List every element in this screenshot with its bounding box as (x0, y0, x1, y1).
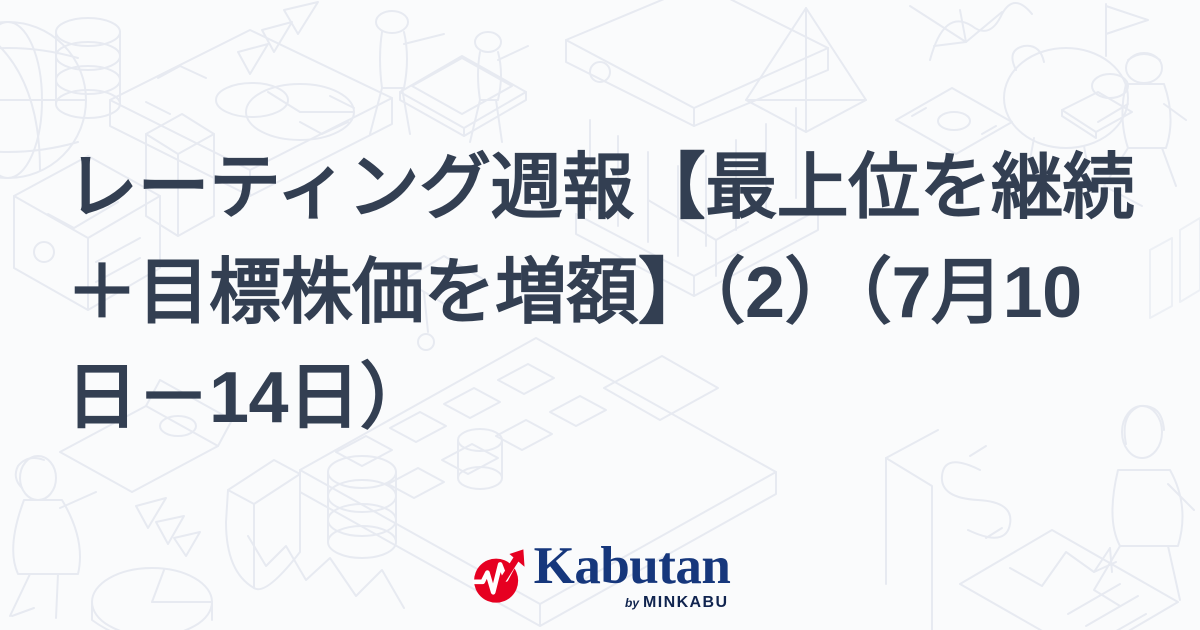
kabutan-logo[interactable]: Kabutan by MINKABU (0, 540, 1200, 612)
person-presenting-art (370, 11, 444, 134)
page-title: レーティング週報【最上位を継続 ＋目標株価を増額】（2）（7月10 日－14日） (66, 136, 1156, 451)
pyramid-art (746, 8, 866, 132)
arrow-down-right-art (910, 6, 1002, 46)
growth-squiggle-art (930, 3, 1032, 60)
title-line-3: 日－14日） (66, 346, 1156, 451)
kabutan-byline: by MINKABU (625, 595, 728, 611)
laptop-art (400, 56, 526, 136)
byline-prefix: by (625, 597, 639, 609)
title-line-1: レーティング週報【最上位を継続 (66, 136, 1156, 241)
flag-art (1106, 4, 1148, 56)
person-pointer-art (470, 32, 528, 142)
bar-chart-art (1150, 218, 1200, 318)
triangle-cursor-art-top (238, 2, 318, 74)
kabutan-arrow-chart-logo-icon (470, 547, 528, 605)
kabutan-logo-text: Kabutan by MINKABU (534, 541, 731, 610)
coin-stack-art (56, 18, 120, 118)
title-line-2: ＋目標株価を増額】（2）（7月10 (66, 241, 1156, 346)
byline-brand: MINKABU (643, 595, 728, 611)
pie-chart-art-topleft (246, 84, 354, 140)
ogp-card: レーティング週報【最上位を継続 ＋目標株価を増額】（2）（7月10 日－14日）… (0, 0, 1200, 630)
dollar-sign-art (942, 446, 1011, 538)
kabutan-wordmark: Kabutan (534, 541, 731, 591)
